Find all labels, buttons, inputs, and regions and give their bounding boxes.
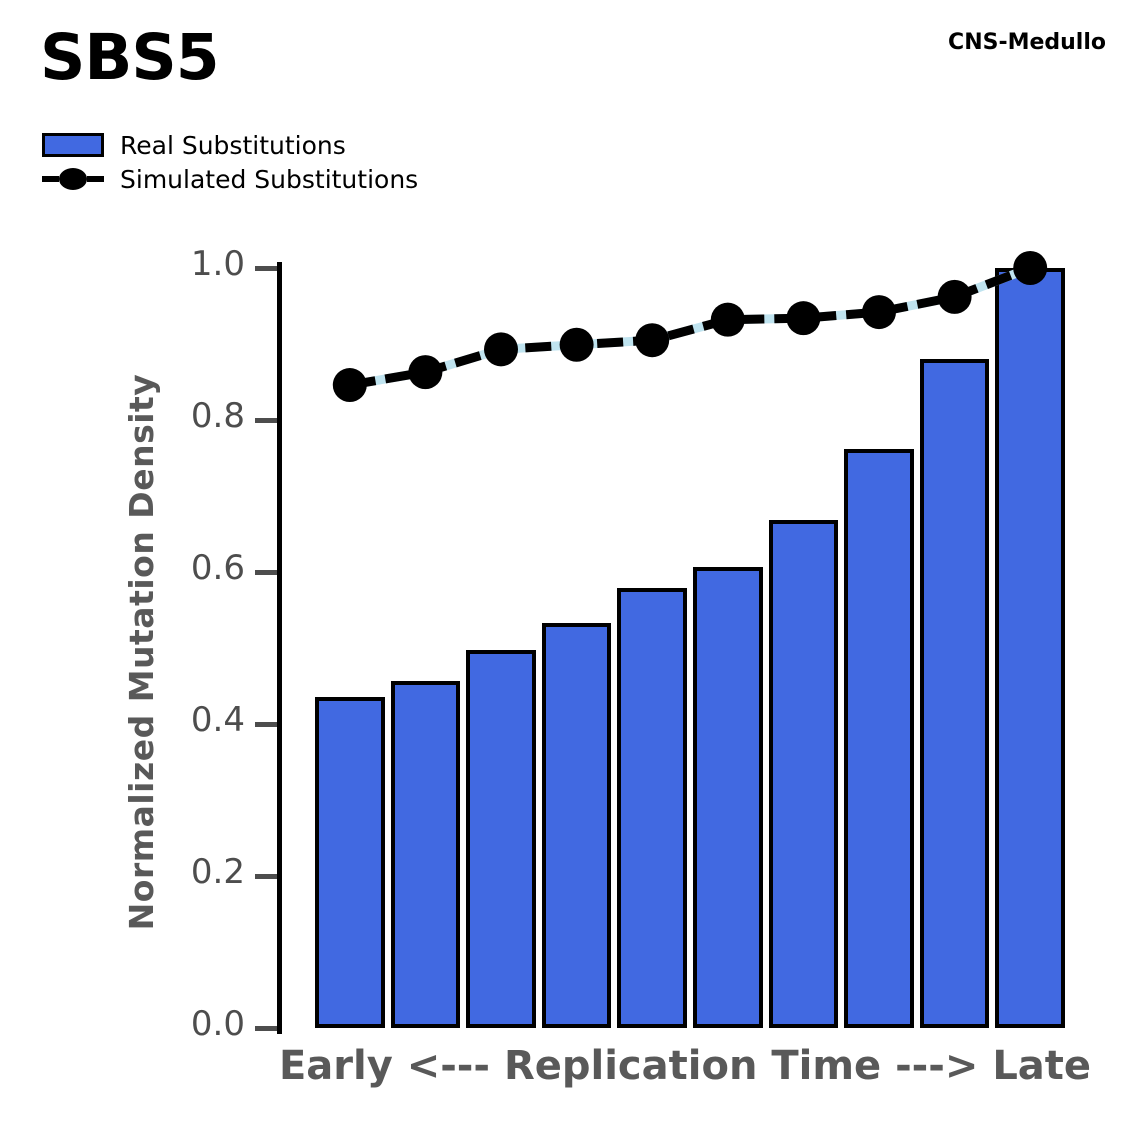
bar (769, 520, 839, 1028)
plot-area: 0.00.20.40.60.81.0 Normalized Mutation D… (0, 0, 1147, 1125)
bar (844, 449, 914, 1028)
bar (315, 697, 385, 1028)
x-axis-label: Early <--- Replication Time ---> Late (250, 1043, 1120, 1089)
bar (920, 359, 990, 1028)
bar (995, 268, 1065, 1028)
chart-root: SBS5 CNS-Medullo Real Substitutions Simu… (0, 0, 1147, 1125)
bar-series-real-substitutions (0, 0, 1147, 1125)
bar (466, 650, 536, 1028)
bar (693, 567, 763, 1028)
bar (391, 681, 461, 1028)
bar (542, 623, 612, 1028)
bar (617, 588, 687, 1028)
